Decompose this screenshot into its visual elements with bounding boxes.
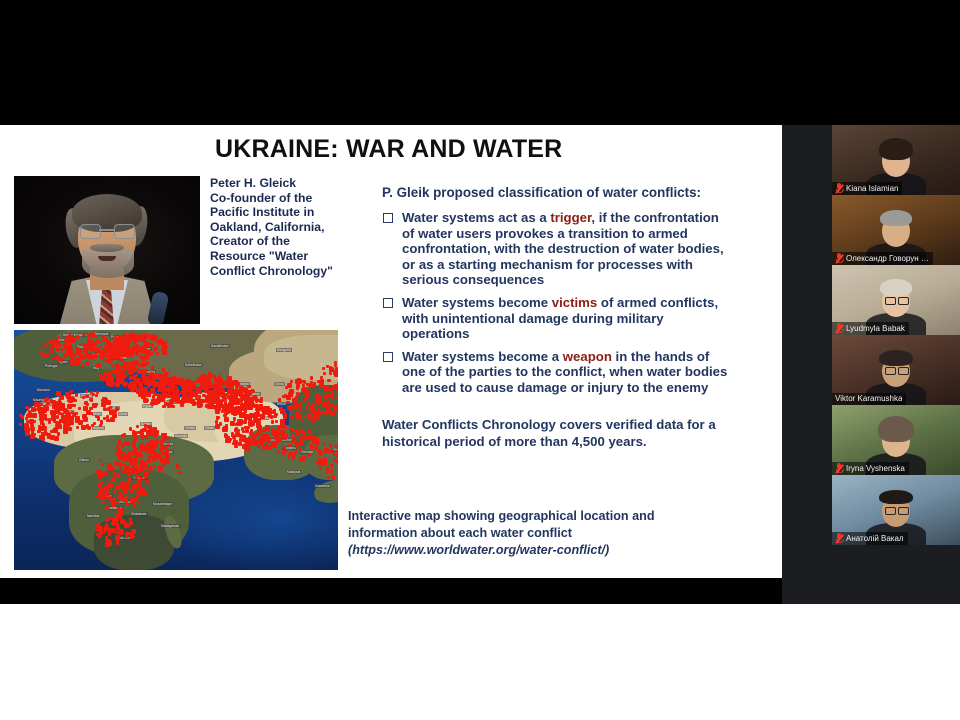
conflict-marker[interactable]: [337, 445, 338, 448]
conflict-marker[interactable]: [302, 380, 305, 383]
conflict-marker[interactable]: [109, 378, 114, 383]
conflict-marker[interactable]: [165, 449, 169, 453]
conflict-marker[interactable]: [25, 406, 28, 409]
conflict-marker[interactable]: [135, 374, 138, 377]
conflict-marker[interactable]: [118, 455, 123, 460]
conflict-marker[interactable]: [67, 349, 70, 352]
conflict-marker[interactable]: [150, 335, 155, 340]
conflict-marker[interactable]: [76, 426, 79, 429]
conflict-marker[interactable]: [124, 523, 129, 528]
conflict-marker[interactable]: [150, 432, 154, 436]
conflict-marker[interactable]: [249, 432, 253, 436]
conflict-marker[interactable]: [99, 345, 102, 348]
conflict-marker[interactable]: [234, 445, 238, 449]
conflict-marker[interactable]: [68, 427, 71, 430]
conflict-marker[interactable]: [146, 361, 149, 364]
conflict-marker[interactable]: [254, 412, 259, 417]
mic-muted-icon[interactable]: [835, 463, 843, 473]
conflict-marker[interactable]: [80, 349, 83, 352]
conflict-marker[interactable]: [63, 429, 68, 434]
conflict-marker[interactable]: [116, 541, 119, 544]
conflict-marker[interactable]: [288, 392, 293, 397]
conflict-marker[interactable]: [160, 458, 165, 463]
conflict-marker[interactable]: [303, 415, 306, 418]
conflict-marker[interactable]: [257, 418, 261, 422]
conflict-marker[interactable]: [255, 408, 259, 412]
conflict-marker[interactable]: [123, 433, 127, 437]
conflict-marker[interactable]: [330, 470, 333, 473]
conflict-marker[interactable]: [54, 436, 59, 441]
conflict-marker[interactable]: [247, 385, 250, 388]
conflict-marker[interactable]: [71, 404, 74, 407]
conflict-marker[interactable]: [106, 518, 109, 521]
conflict-marker[interactable]: [215, 420, 219, 424]
conflict-marker[interactable]: [151, 399, 155, 403]
conflict-marker[interactable]: [271, 441, 275, 445]
conflict-marker[interactable]: [142, 369, 147, 374]
conflict-marker[interactable]: [324, 412, 327, 415]
conflict-marker[interactable]: [38, 426, 43, 431]
conflict-marker[interactable]: [165, 454, 170, 459]
conflict-marker[interactable]: [58, 412, 61, 415]
conflict-marker[interactable]: [56, 415, 59, 418]
conflict-marker[interactable]: [138, 469, 141, 472]
mic-muted-icon[interactable]: [835, 253, 843, 263]
conflict-marker[interactable]: [75, 418, 80, 423]
conflict-marker[interactable]: [299, 448, 302, 451]
conflict-marker[interactable]: [254, 434, 258, 438]
conflict-marker[interactable]: [286, 401, 289, 404]
conflict-marker[interactable]: [245, 394, 250, 399]
conflict-marker[interactable]: [157, 453, 162, 458]
conflict-marker[interactable]: [158, 342, 161, 345]
conflict-marker[interactable]: [152, 376, 156, 380]
conflict-marker[interactable]: [249, 413, 254, 418]
conflict-marker[interactable]: [256, 422, 261, 427]
conflict-marker[interactable]: [144, 471, 147, 474]
conflict-marker[interactable]: [294, 401, 297, 404]
conflict-marker[interactable]: [160, 397, 164, 401]
conflict-marker[interactable]: [129, 453, 132, 456]
conflict-marker[interactable]: [213, 384, 218, 389]
conflict-marker[interactable]: [185, 398, 190, 403]
conflict-marker[interactable]: [108, 355, 113, 360]
conflict-marker[interactable]: [109, 345, 114, 350]
conflict-marker[interactable]: [238, 422, 242, 426]
conflict-marker[interactable]: [101, 501, 104, 504]
conflict-marker[interactable]: [162, 350, 167, 355]
conflict-marker[interactable]: [330, 411, 335, 416]
conflict-marker[interactable]: [238, 442, 242, 446]
conflict-marker[interactable]: [172, 391, 177, 396]
conflict-marker[interactable]: [338, 477, 339, 482]
conflict-marker[interactable]: [96, 524, 99, 527]
participant-tile[interactable]: Олександр Говорун …: [832, 195, 960, 265]
conflict-marker[interactable]: [25, 431, 30, 436]
conflict-marker[interactable]: [168, 394, 172, 398]
conflict-marker[interactable]: [108, 466, 113, 471]
conflict-marker[interactable]: [334, 445, 337, 448]
conflict-marker[interactable]: [100, 422, 103, 425]
participant-tile[interactable]: Kiana Islamian: [832, 125, 960, 195]
conflict-marker[interactable]: [149, 452, 153, 456]
conflict-marker[interactable]: [81, 425, 86, 430]
conflict-marker[interactable]: [106, 506, 109, 509]
conflict-marker[interactable]: [227, 376, 231, 380]
conflict-marker[interactable]: [296, 387, 299, 390]
conflict-marker[interactable]: [273, 415, 277, 419]
conflict-marker[interactable]: [331, 475, 336, 480]
conflict-marker[interactable]: [145, 480, 148, 483]
conflict-marker[interactable]: [86, 353, 91, 358]
conflict-marker[interactable]: [161, 446, 165, 450]
conflict-marker[interactable]: [118, 379, 121, 382]
conflict-marker[interactable]: [283, 426, 287, 430]
conflict-marker[interactable]: [147, 392, 151, 396]
conflict-marker[interactable]: [94, 353, 97, 356]
conflict-marker[interactable]: [232, 390, 235, 393]
conflict-marker[interactable]: [71, 353, 74, 356]
conflict-marker[interactable]: [52, 404, 57, 409]
conflict-marker[interactable]: [105, 491, 110, 496]
conflict-marker[interactable]: [114, 352, 117, 355]
conflict-marker[interactable]: [94, 403, 97, 406]
conflict-marker[interactable]: [83, 348, 88, 353]
conflict-marker[interactable]: [125, 465, 128, 468]
conflict-marker[interactable]: [287, 456, 290, 459]
conflict-marker[interactable]: [271, 432, 275, 436]
conflict-marker[interactable]: [323, 442, 326, 445]
conflict-marker[interactable]: [283, 446, 286, 449]
conflict-marker[interactable]: [102, 471, 107, 476]
conflict-marker[interactable]: [109, 371, 112, 374]
conflict-marker[interactable]: [179, 378, 184, 383]
conflict-marker[interactable]: [133, 437, 137, 441]
conflict-marker[interactable]: [277, 450, 280, 453]
conflict-marker[interactable]: [128, 383, 133, 388]
conflict-marker[interactable]: [45, 344, 48, 347]
conflict-marker[interactable]: [162, 433, 167, 438]
conflict-marker[interactable]: [112, 522, 115, 525]
conflict-marker[interactable]: [308, 430, 311, 433]
conflict-marker[interactable]: [180, 403, 184, 407]
conflict-marker[interactable]: [219, 422, 223, 426]
conflict-marker[interactable]: [102, 339, 105, 342]
conflict-marker[interactable]: [131, 529, 136, 534]
conflict-marker[interactable]: [287, 383, 292, 388]
conflict-marker[interactable]: [112, 413, 117, 418]
conflict-marker[interactable]: [192, 403, 196, 407]
conflict-marker[interactable]: [244, 426, 248, 430]
conflict-marker[interactable]: [115, 371, 118, 374]
conflict-marker[interactable]: [63, 353, 68, 358]
conflict-marker[interactable]: [115, 366, 120, 371]
conflict-marker[interactable]: [197, 388, 201, 392]
conflict-marker[interactable]: [216, 416, 220, 420]
conflict-marker[interactable]: [131, 535, 134, 538]
conflict-marker[interactable]: [160, 441, 164, 445]
conflict-marker[interactable]: [122, 369, 125, 372]
conflict-marker[interactable]: [268, 414, 272, 418]
conflict-marker[interactable]: [315, 438, 320, 443]
conflict-marker[interactable]: [140, 487, 143, 490]
conflict-marker[interactable]: [299, 408, 302, 411]
conflict-marker[interactable]: [111, 364, 114, 367]
conflict-marker[interactable]: [90, 398, 93, 401]
conflict-marker[interactable]: [125, 347, 128, 350]
conflict-marker[interactable]: [50, 346, 53, 349]
conflict-marker[interactable]: [222, 381, 225, 384]
conflict-marker[interactable]: [129, 376, 132, 379]
conflict-marker[interactable]: [251, 422, 255, 426]
conflict-marker[interactable]: [116, 501, 119, 504]
conflict-marker[interactable]: [147, 378, 151, 382]
conflict-marker[interactable]: [234, 407, 239, 412]
conflict-marker[interactable]: [247, 438, 251, 442]
conflict-marker[interactable]: [104, 486, 109, 491]
conflict-marker[interactable]: [151, 444, 155, 448]
conflict-marker[interactable]: [140, 355, 143, 358]
conflict-marker[interactable]: [142, 428, 146, 432]
conflict-marker[interactable]: [215, 409, 220, 414]
conflict-marker[interactable]: [313, 382, 316, 385]
conflict-marker[interactable]: [155, 347, 158, 350]
conflict-marker[interactable]: [118, 439, 122, 443]
conflict-marker[interactable]: [142, 446, 146, 450]
conflict-marker[interactable]: [39, 347, 42, 350]
conflict-marker[interactable]: [143, 339, 146, 342]
conflict-marker[interactable]: [135, 335, 138, 338]
conflict-marker[interactable]: [316, 394, 319, 397]
conflict-marker[interactable]: [262, 445, 267, 450]
conflict-marker[interactable]: [146, 353, 149, 356]
conflict-marker[interactable]: [318, 462, 323, 467]
conflict-marker[interactable]: [336, 450, 338, 453]
conflict-marker[interactable]: [225, 439, 229, 443]
conflict-marker[interactable]: [86, 424, 89, 427]
conflict-marker[interactable]: [332, 386, 335, 389]
conflict-marker[interactable]: [170, 401, 174, 405]
conflict-marker[interactable]: [326, 405, 329, 408]
conflict-marker[interactable]: [40, 351, 43, 354]
conflict-marker[interactable]: [205, 399, 208, 402]
conflict-marker[interactable]: [118, 346, 121, 349]
conflict-marker[interactable]: [206, 380, 211, 385]
conflict-marker[interactable]: [261, 429, 265, 433]
conflict-marker[interactable]: [143, 396, 147, 400]
conflict-marker[interactable]: [125, 501, 128, 504]
conflict-marker[interactable]: [290, 415, 293, 418]
conflict-marker[interactable]: [117, 528, 120, 531]
conflict-marker[interactable]: [154, 393, 158, 397]
conflict-marker[interactable]: [284, 413, 287, 416]
conflict-marker[interactable]: [114, 461, 117, 464]
conflict-marker[interactable]: [114, 473, 117, 476]
conflict-marker[interactable]: [310, 376, 313, 379]
conflict-marker[interactable]: [146, 336, 149, 339]
conflict-marker[interactable]: [182, 392, 187, 397]
conflict-marker[interactable]: [301, 456, 306, 461]
conflict-marker[interactable]: [60, 358, 63, 361]
conflict-marker[interactable]: [96, 495, 99, 498]
conflict-marker[interactable]: [296, 392, 299, 395]
conflict-marker[interactable]: [136, 452, 141, 457]
conflict-marker[interactable]: [157, 389, 161, 393]
conflict-marker[interactable]: [150, 343, 153, 346]
conflict-marker[interactable]: [320, 379, 325, 384]
conflict-marker[interactable]: [138, 391, 142, 395]
conflict-marker[interactable]: [66, 418, 71, 423]
conflict-marker[interactable]: [100, 350, 103, 353]
conflict-marker[interactable]: [128, 333, 131, 336]
conflict-marker[interactable]: [335, 397, 338, 400]
conflict-marker[interactable]: [336, 388, 339, 391]
conflict-marker[interactable]: [182, 387, 186, 391]
conflict-marker[interactable]: [95, 415, 98, 418]
conflict-marker[interactable]: [186, 379, 190, 383]
conflict-marker[interactable]: [329, 404, 332, 407]
conflict-marker[interactable]: [86, 410, 91, 415]
conflict-marker[interactable]: [280, 419, 285, 424]
conflict-marker[interactable]: [311, 409, 314, 412]
conflict-marker[interactable]: [101, 463, 104, 466]
conflict-marker[interactable]: [130, 460, 135, 465]
conflict-marker[interactable]: [132, 484, 137, 489]
conflict-marker[interactable]: [329, 443, 332, 446]
conflict-marker[interactable]: [137, 369, 142, 374]
conflict-marker[interactable]: [125, 495, 128, 498]
conflict-marker[interactable]: [334, 374, 337, 377]
conflict-marker[interactable]: [144, 424, 148, 428]
conflict-marker[interactable]: [99, 374, 102, 377]
map-source-url[interactable]: (https://www.worldwater.org/water-confli…: [348, 542, 708, 559]
conflict-marker[interactable]: [28, 410, 31, 413]
conflict-marker[interactable]: [152, 389, 156, 393]
conflict-marker[interactable]: [103, 407, 106, 410]
conflict-marker[interactable]: [85, 390, 88, 393]
conflict-marker[interactable]: [125, 534, 128, 537]
conflict-marker[interactable]: [133, 365, 136, 368]
conflict-marker[interactable]: [60, 407, 63, 410]
conflict-marker[interactable]: [307, 414, 312, 419]
participant-tile[interactable]: Iryna Vyshenska: [832, 405, 960, 475]
mic-muted-icon[interactable]: [835, 183, 843, 193]
conflict-marker[interactable]: [240, 397, 243, 400]
conflict-marker[interactable]: [140, 433, 144, 437]
conflict-marker[interactable]: [219, 400, 222, 403]
conflict-marker[interactable]: [174, 396, 179, 401]
conflict-marker[interactable]: [40, 409, 45, 414]
conflict-marker[interactable]: [120, 486, 123, 489]
conflict-marker[interactable]: [105, 536, 108, 539]
conflict-marker[interactable]: [44, 414, 47, 417]
conflict-marker[interactable]: [26, 420, 29, 423]
participant-tile[interactable]: Анатолій Вакал: [832, 475, 960, 545]
conflict-marker[interactable]: [225, 409, 230, 414]
conflict-marker[interactable]: [288, 444, 291, 447]
conflict-marker[interactable]: [61, 348, 64, 351]
conflict-marker[interactable]: [149, 352, 152, 355]
conflict-marker[interactable]: [133, 340, 136, 343]
conflict-marker[interactable]: [85, 361, 88, 364]
conflict-marker[interactable]: [258, 439, 263, 444]
conflict-marker[interactable]: [301, 419, 304, 422]
conflict-marker[interactable]: [39, 435, 44, 440]
conflict-marker[interactable]: [138, 490, 143, 495]
conflict-marker[interactable]: [130, 498, 135, 503]
conflict-marker[interactable]: [56, 348, 59, 351]
conflict-marker[interactable]: [116, 407, 119, 410]
conflict-marker[interactable]: [91, 349, 94, 352]
mic-muted-icon[interactable]: [835, 323, 843, 333]
conflict-marker[interactable]: [123, 442, 127, 446]
conflict-marker[interactable]: [118, 462, 121, 465]
conflict-marker[interactable]: [210, 395, 213, 398]
conflict-marker[interactable]: [294, 442, 297, 445]
conflict-marker[interactable]: [305, 390, 310, 395]
conflict-marker[interactable]: [278, 398, 281, 401]
conflict-marker[interactable]: [259, 404, 263, 408]
conflict-marker[interactable]: [113, 490, 116, 493]
conflict-marker[interactable]: [122, 470, 125, 473]
conflict-marker[interactable]: [324, 448, 329, 453]
conflict-marker[interactable]: [130, 489, 133, 492]
conflict-marker[interactable]: [217, 390, 220, 393]
conflict-marker[interactable]: [32, 413, 37, 418]
conflict-marker[interactable]: [147, 459, 151, 463]
conflict-marker[interactable]: [330, 464, 333, 467]
conflict-marker[interactable]: [331, 451, 334, 454]
conflict-marker[interactable]: [213, 395, 218, 400]
conflict-marker[interactable]: [82, 333, 85, 336]
conflict-marker[interactable]: [308, 435, 311, 438]
conflict-marker[interactable]: [65, 411, 68, 414]
conflict-marker[interactable]: [116, 384, 119, 387]
conflict-marker[interactable]: [79, 354, 84, 359]
conflict-marker[interactable]: [106, 419, 109, 422]
conflict-marker[interactable]: [226, 381, 231, 386]
conflict-marker[interactable]: [302, 384, 305, 387]
conflict-marker[interactable]: [228, 391, 231, 394]
conflict-marker[interactable]: [164, 402, 168, 406]
conflict-marker[interactable]: [158, 465, 163, 470]
conflict-marker[interactable]: [119, 515, 122, 518]
conflict-marker[interactable]: [101, 402, 106, 407]
conflict-marker[interactable]: [151, 366, 154, 369]
conflict-marker[interactable]: [125, 364, 128, 367]
conflict-marker[interactable]: [177, 465, 180, 468]
conflict-marker[interactable]: [243, 435, 247, 439]
conflict-marker[interactable]: [46, 397, 49, 400]
participant-tile[interactable]: Viktor Karamushka: [832, 335, 960, 405]
conflict-marker[interactable]: [83, 417, 88, 422]
conflict-marker[interactable]: [317, 402, 320, 405]
conflict-marker[interactable]: [331, 392, 334, 395]
conflict-marker[interactable]: [129, 521, 132, 524]
conflict-marker[interactable]: [75, 393, 78, 396]
conflict-marker[interactable]: [295, 396, 298, 399]
conflict-marker[interactable]: [244, 387, 247, 390]
conflict-marker[interactable]: [283, 409, 286, 412]
conflict-marker[interactable]: [288, 453, 291, 456]
conflict-marker[interactable]: [291, 406, 294, 409]
conflict-marker[interactable]: [69, 359, 72, 362]
participant-tile[interactable]: Lyudmyla Babak: [832, 265, 960, 335]
conflict-marker[interactable]: [95, 394, 98, 397]
conflict-marker[interactable]: [297, 403, 302, 408]
conflict-marker[interactable]: [97, 483, 102, 488]
conflict-marker[interactable]: [141, 362, 146, 367]
